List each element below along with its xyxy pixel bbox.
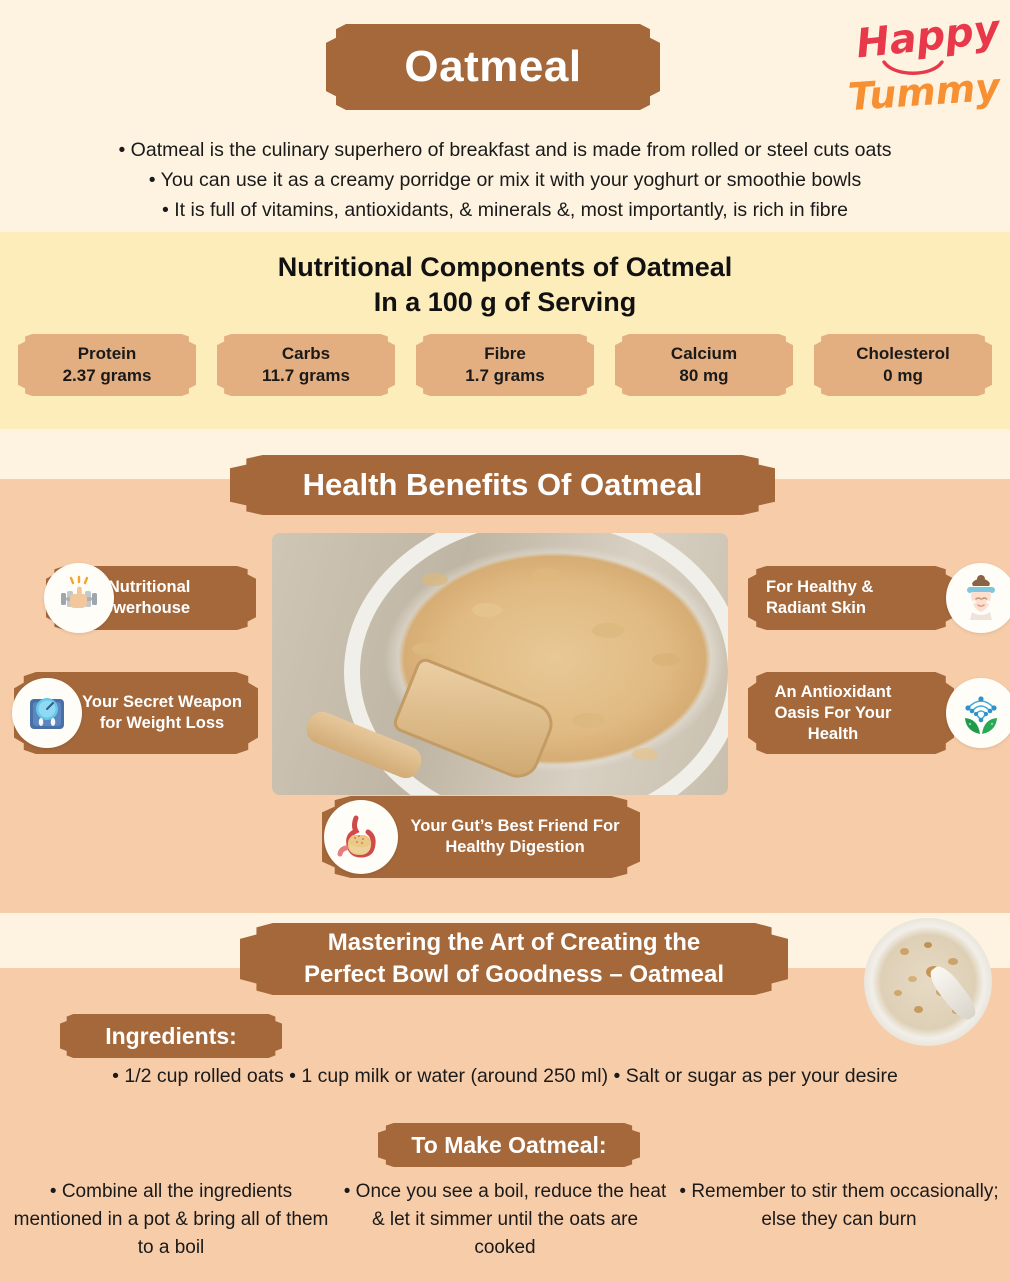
face-skincare-icon xyxy=(946,563,1010,633)
nutrition-chip-value: 2.37 grams xyxy=(63,365,152,387)
nutrition-heading-line1: Nutritional Components of Oatmeal xyxy=(0,250,1010,285)
health-benefits-heading: Health Benefits Of Oatmeal xyxy=(230,455,775,515)
method-label: To Make Oatmeal: xyxy=(378,1123,640,1167)
nutrition-chip-fibre: Fibre 1.7 grams xyxy=(416,334,594,396)
method-steps: • Combine all the ingredients mentioned … xyxy=(8,1178,1002,1262)
oats-bowl-photo xyxy=(272,533,728,795)
benefit-item-radiant-skin: For Healthy & Radiant Skin xyxy=(748,566,954,630)
nutrition-heading-line2: In a 100 g of Serving xyxy=(0,285,1010,320)
benefit-item-antioxidant: An Antioxidant Oasis For Your Health xyxy=(748,672,954,754)
method-step: • Remember to stir them occasionally; el… xyxy=(676,1178,1002,1262)
ingredients-list: • 1/2 cup rolled oats • 1 cup milk or wa… xyxy=(0,1065,1010,1088)
method-step: • Once you see a boil, reduce the heat &… xyxy=(342,1178,668,1262)
benefit-label: Your Gut’s Best Friend For Healthy Diges… xyxy=(404,816,626,858)
brand-logo-happy: Happy xyxy=(854,7,1002,68)
infographic-page: Oatmeal Happy Tummy • Oatmeal is the cul… xyxy=(0,0,1010,1281)
intro-bullet: • Oatmeal is the culinary superhero of b… xyxy=(0,135,1010,165)
ingredients-label: Ingredients: xyxy=(60,1014,282,1058)
benefit-item-weight-loss: Your Secret Weapon for Weight Loss xyxy=(14,672,258,754)
nutrition-chip-name: Fibre xyxy=(484,343,526,365)
benefit-label: A Nutritional Powerhouse xyxy=(92,577,244,619)
porridge-bowl-photo xyxy=(864,918,992,1046)
nutrition-chip-value: 1.7 grams xyxy=(465,365,544,387)
nutrition-chip-name: Protein xyxy=(78,343,137,365)
brand-logo: Happy Tummy xyxy=(842,14,992,114)
method-step: • Combine all the ingredients mentioned … xyxy=(8,1178,334,1262)
stomach-icon xyxy=(324,800,398,874)
nutrition-chip-value: 11.7 grams xyxy=(262,365,350,387)
nutrition-chip-protein: Protein 2.37 grams xyxy=(18,334,196,396)
intro-bullet: • You can use it as a creamy porridge or… xyxy=(0,165,1010,195)
recipe-heading: Mastering the Art of Creating the Perfec… xyxy=(240,923,788,995)
nutrition-chip-value: 80 mg xyxy=(679,365,728,387)
antioxidant-leaves-icon xyxy=(946,678,1010,748)
benefit-label: An Antioxidant Oasis For Your Health xyxy=(768,682,898,745)
weighing-scale-icon xyxy=(12,678,82,748)
benefit-item-nutritional-powerhouse: A Nutritional Powerhouse xyxy=(46,566,256,630)
recipe-heading-line2: Perfect Bowl of Goodness – Oatmeal xyxy=(304,959,724,991)
nutrition-chip-cholesterol: Cholesterol 0 mg xyxy=(814,334,992,396)
nutrition-chip-name: Cholesterol xyxy=(856,343,950,365)
nutrition-chip-carbs: Carbs 11.7 grams xyxy=(217,334,395,396)
nutrition-chip-calcium: Calcium 80 mg xyxy=(615,334,793,396)
recipe-heading-line1: Mastering the Art of Creating the xyxy=(328,927,700,959)
nutrition-chip-name: Calcium xyxy=(671,343,737,365)
nutrition-heading: Nutritional Components of Oatmeal In a 1… xyxy=(0,250,1010,320)
nutrition-chip-row: Protein 2.37 grams Carbs 11.7 grams Fibr… xyxy=(18,334,992,396)
brand-logo-tummy: Tummy xyxy=(847,65,1002,119)
nutrition-chip-value: 0 mg xyxy=(883,365,923,387)
benefit-item-digestion: Your Gut’s Best Friend For Healthy Diges… xyxy=(322,796,640,878)
page-title: Oatmeal xyxy=(326,24,660,110)
benefit-label: For Healthy & Radiant Skin xyxy=(766,577,908,619)
nutrition-chip-name: Carbs xyxy=(282,343,330,365)
intro-bullet: • It is full of vitamins, antioxidants, … xyxy=(0,195,1010,225)
benefit-label: Your Secret Weapon for Weight Loss xyxy=(76,692,248,734)
dumbbell-arm-icon xyxy=(44,563,114,633)
intro-bullets: • Oatmeal is the culinary superhero of b… xyxy=(0,135,1010,225)
